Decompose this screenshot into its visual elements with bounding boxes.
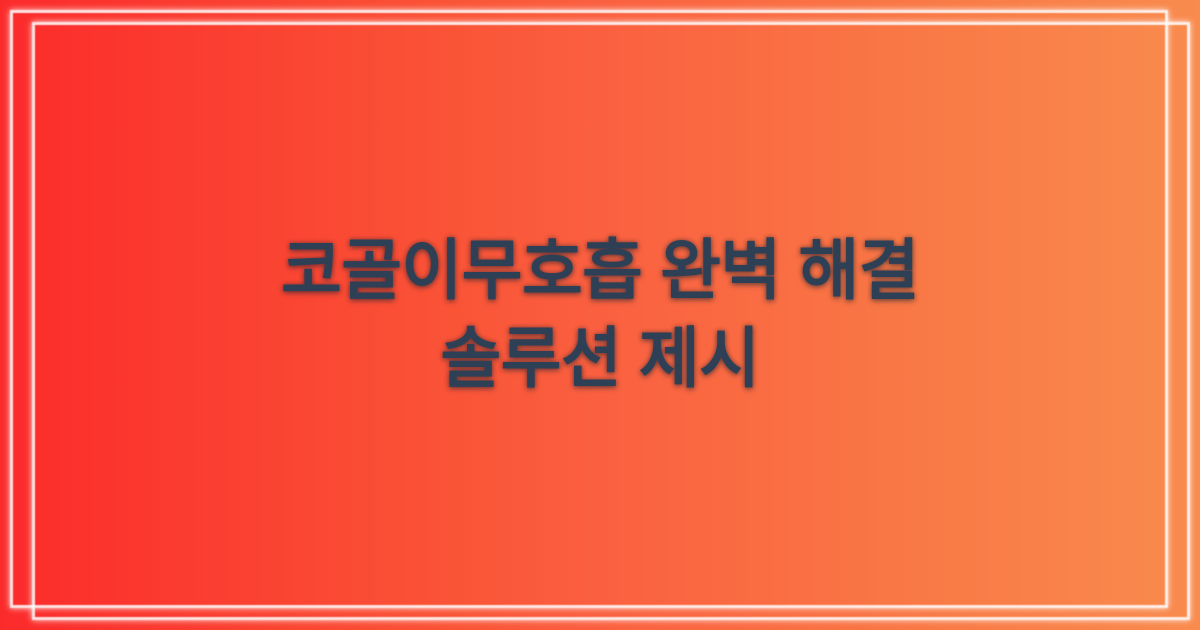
headline-line-1: 코골이무호흡 완벽 해결 (281, 227, 919, 315)
headline-line-2: 솔루션 제시 (441, 315, 760, 403)
banner-card: 코골이무호흡 완벽 해결 솔루션 제시 (0, 0, 1200, 630)
headline-block: 코골이무호흡 완벽 해결 솔루션 제시 (0, 0, 1200, 630)
